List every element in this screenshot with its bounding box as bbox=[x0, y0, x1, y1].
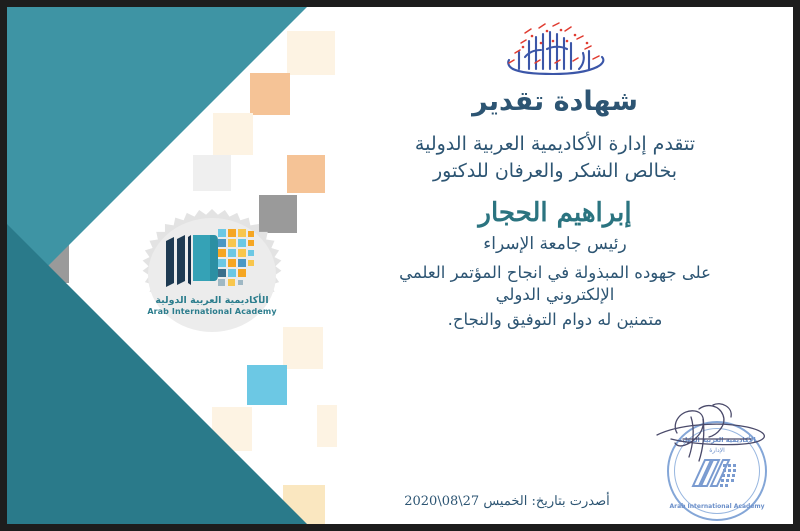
logo-pixel bbox=[218, 249, 226, 257]
reason-line-2: الإلكتروني الدولي bbox=[317, 284, 793, 306]
logo-pixel bbox=[228, 249, 236, 257]
page-title: شهادة تقدير bbox=[317, 87, 793, 117]
academy-logo-seal: الأكاديمية العربية الدولية Arab Internat… bbox=[138, 209, 286, 343]
wish-line: متمنين له دوام التوفيق والنجاح. bbox=[317, 309, 793, 331]
logo-pixel bbox=[228, 279, 235, 286]
logo-pixel bbox=[248, 231, 254, 237]
logo-pixel bbox=[218, 259, 226, 267]
logo-pixel bbox=[228, 269, 236, 277]
logo-pixel bbox=[248, 240, 254, 246]
stamp-and-signature: الأكاديمية العربية الدولية الإدارة bbox=[647, 399, 797, 519]
basmala-calligraphy-icon bbox=[495, 19, 615, 81]
intro-line-1: تتقدم إدارة الأكاديمية العربية الدولية bbox=[317, 131, 793, 159]
stamp-name-english: Arab International Academy bbox=[669, 503, 765, 510]
logo-pixel bbox=[238, 259, 246, 267]
logo-pixel bbox=[218, 269, 226, 277]
logo-pixel bbox=[228, 259, 236, 267]
logo-pixel bbox=[218, 279, 225, 286]
logo-pixel bbox=[228, 239, 236, 247]
logo-pixel bbox=[238, 280, 243, 285]
logo-name-arabic: الأكاديمية العربية الدولية bbox=[138, 295, 286, 306]
logo-pixel bbox=[238, 269, 246, 277]
certificate-document: الأكاديمية العربية الدولية Arab Internat… bbox=[0, 0, 800, 531]
issue-date: أصدرت بتاريخ: الخميس 27\08\2020 bbox=[377, 494, 637, 509]
logo-pixel bbox=[238, 229, 246, 237]
recipient-title: رئيس جامعة الإسراء bbox=[317, 234, 793, 254]
logo-pixel bbox=[228, 229, 236, 237]
recipient-name: إبراهيم الحجار bbox=[317, 198, 793, 228]
logo-pixel bbox=[218, 239, 226, 247]
logo-pixel bbox=[218, 229, 226, 237]
handwritten-signature-icon bbox=[647, 399, 797, 471]
logo-name-english: Arab International Academy bbox=[138, 307, 286, 316]
logo-pixel bbox=[248, 260, 254, 266]
intro-line-2: بخالص الشكر والعرفان للدكتور bbox=[317, 158, 793, 186]
reason-line-1: على جهوده المبذولة في انجاح المؤتمر العل… bbox=[317, 262, 793, 284]
open-book-icon bbox=[164, 231, 218, 289]
logo-pixel-mosaic-icon bbox=[218, 229, 266, 291]
logo-pixel bbox=[248, 250, 254, 256]
logo-pixel bbox=[238, 239, 246, 247]
logo-pixel bbox=[238, 249, 246, 257]
